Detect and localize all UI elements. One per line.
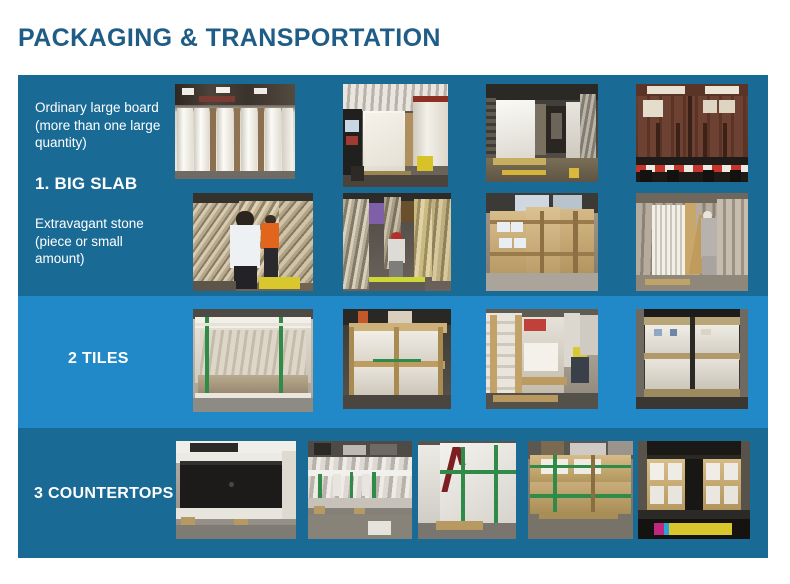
photo-slabs-loading-truck[interactable] [343,84,448,187]
label-extravagant-stone: Extravagant stone (piece or small amount… [35,215,175,268]
packaging-panel: Ordinary large board (more than one larg… [18,75,768,558]
photo-black-countertop-crate[interactable] [176,441,296,539]
label-tiles-heading: 2 TILES [68,349,129,370]
photo-countertops-in-container[interactable] [638,441,750,539]
photo-wrapped-slabs-warehouse[interactable] [175,84,295,179]
photo-container-loaded-tiles[interactable] [636,309,748,409]
page-title: PACKAGING & TRANSPORTATION [18,24,441,53]
photo-slabs-inside-container[interactable] [486,84,598,182]
photo-countertop-crates-stacked[interactable] [528,441,633,539]
photo-tile-bundle-strapped[interactable] [193,309,313,412]
photo-container-rear-doors[interactable] [636,84,748,182]
photo-tile-crates-pallet[interactable] [343,309,451,409]
photo-worker-packing-crate[interactable] [486,309,598,409]
photo-workers-granite-slab[interactable] [193,193,313,291]
label-big-slab-heading: 1. BIG SLAB [35,173,137,195]
photo-warehouse-slab-aisle[interactable] [343,193,451,291]
photo-grey-countertops-strapped[interactable] [308,441,412,539]
photo-wrapped-countertop-bundle[interactable] [418,441,516,539]
photo-wooden-crates-slabs[interactable] [486,193,598,291]
photo-worker-bracing-container[interactable] [636,193,748,291]
label-countertops-heading: 3 COUNTERTOPS [34,484,174,505]
label-ordinary-large-board: Ordinary large board (more than one larg… [35,99,175,152]
